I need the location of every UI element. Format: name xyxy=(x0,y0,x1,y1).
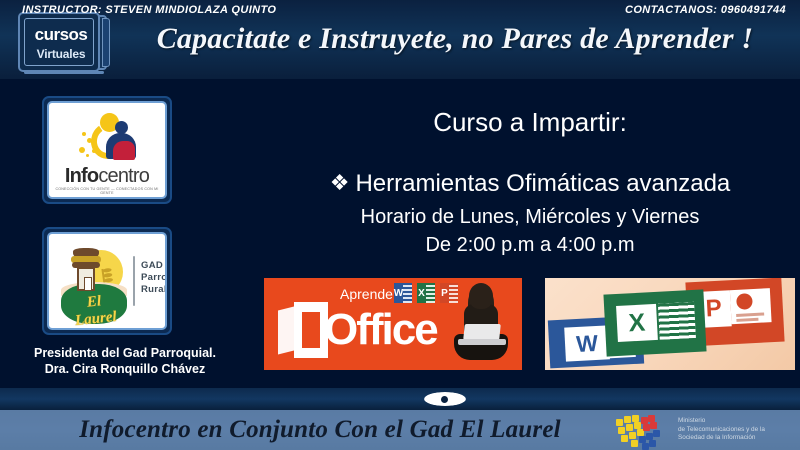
course-name: Herramientas Ofimáticas avanzada xyxy=(355,170,730,197)
bottom-title: Infocentro en Conjunto Con el Gad El Lau… xyxy=(40,416,600,444)
eye-icon xyxy=(424,392,466,406)
word-icon-letter: W xyxy=(394,283,403,303)
office-app-icons: W X P xyxy=(394,283,458,303)
logo-divider xyxy=(133,256,135,306)
aprende-label: Aprende xyxy=(340,286,393,302)
infocentro-word-bold: Info xyxy=(65,165,98,187)
course-schedule-days: Horario de Lunes, Miércoles y Viernes xyxy=(270,206,790,229)
dots-cluster-icon xyxy=(79,129,105,159)
course-heading: Curso a Impartir: xyxy=(280,107,780,138)
chapel-icon xyxy=(71,248,101,290)
president-name: Dra. Cira Ronquillo Chávez xyxy=(0,361,250,377)
cursos-virtuales-logo: cursos Virtuales xyxy=(18,12,112,72)
word-tile-letter: W xyxy=(564,325,610,361)
gad-logo-frame: El Laurel GAD Parroquial Rural xyxy=(47,232,167,330)
laptop-icon xyxy=(458,324,504,346)
infocentro-logo-frame: Infocentro CONECCIÓN CON TU GENTE — CONE… xyxy=(47,101,167,199)
excel-icon-lines xyxy=(426,283,435,303)
gad-line-1: GAD xyxy=(141,260,167,272)
infocentro-tagline: CONECCIÓN CON TU GENTE — CONECTADOS CON … xyxy=(49,187,165,195)
instructor-bar xyxy=(0,388,800,410)
eye-pupil xyxy=(441,396,448,403)
infocentro-wordmark: Infocentro xyxy=(49,165,165,188)
mintel-mark-icon xyxy=(614,415,674,447)
gad-parroquial-logo-card: El Laurel GAD Parroquial Rural xyxy=(42,227,172,335)
mintel-wordmark: Ministeriode Telecomunicaciones y de laS… xyxy=(678,417,794,443)
student-with-laptop-illustration xyxy=(450,284,512,366)
word-icon: W xyxy=(394,283,412,303)
page-title: Capacitate e Instruyete, no Pares de Apr… xyxy=(120,17,790,61)
course-name-row: ❖Herramientas Ofimáticas avanzada xyxy=(270,170,790,198)
gad-wordmark: GAD Parroquial Rural xyxy=(141,260,167,296)
mintel-logo: Ministeriode Telecomunicaciones y de laS… xyxy=(614,414,794,448)
powerpoint-tile-slide xyxy=(730,288,772,324)
laptop-base xyxy=(458,339,506,345)
el-laurel-script: El Laurel xyxy=(65,291,124,330)
excel-tile-letter: X xyxy=(616,304,658,342)
office-wordmark: Office xyxy=(324,306,437,354)
logo-line-1: cursos xyxy=(20,25,102,45)
word-icon-lines xyxy=(403,283,412,303)
infocentro-word-light: centro xyxy=(98,165,149,187)
chapel-wall xyxy=(77,267,95,291)
book-icon: cursos Virtuales xyxy=(18,12,100,72)
excel-icon: X xyxy=(417,283,435,303)
gad-artwork: El Laurel xyxy=(57,242,129,328)
office-logo-icon xyxy=(278,302,328,358)
book-spine-inner xyxy=(102,18,110,67)
gad-line-2: Parroquial xyxy=(141,272,167,284)
president-role: Presidenta del Gad Parroquial. xyxy=(0,345,250,361)
excel-tile: X xyxy=(603,289,706,356)
course-schedule-time: De 2:00 p.m a 4:00 p.m xyxy=(270,234,790,257)
person-hair-top xyxy=(469,283,493,309)
infocentro-artwork xyxy=(49,107,165,169)
person-body-accent-icon xyxy=(113,141,135,160)
office-logo-cutout xyxy=(302,312,320,348)
president-credit: Presidenta del Gad Parroquial. Dra. Cira… xyxy=(0,345,250,377)
powerpoint-icon-letter: P xyxy=(440,283,449,303)
chapel-door xyxy=(84,277,92,291)
aprende-office-banner: Aprende W X P Office xyxy=(264,278,522,370)
book-base xyxy=(24,71,104,74)
slide-line-1 xyxy=(736,312,764,316)
office-apps-banner: W P X xyxy=(545,278,795,370)
contact-label: CONTACTANOS: 0960491744 xyxy=(625,4,786,16)
infocentro-logo-card: Infocentro CONECCIÓN CON TU GENTE — CONE… xyxy=(42,96,172,204)
laptop-screen xyxy=(463,324,501,340)
gad-line-3: Rural xyxy=(141,284,167,296)
excel-icon-letter: X xyxy=(417,283,426,303)
spreadsheet-grid-icon xyxy=(658,302,696,340)
diamond-bullet-icon: ❖ xyxy=(330,170,350,195)
instructor-label: INSTRUCTOR: STEVEN MINDIOLAZA QUINTO xyxy=(22,4,276,16)
poster-canvas: cursos Virtuales Capacitate e Instruyete… xyxy=(0,0,800,450)
slide-line-2 xyxy=(736,318,758,322)
pie-chart-icon xyxy=(736,293,753,310)
logo-line-2: Virtuales xyxy=(20,47,102,61)
